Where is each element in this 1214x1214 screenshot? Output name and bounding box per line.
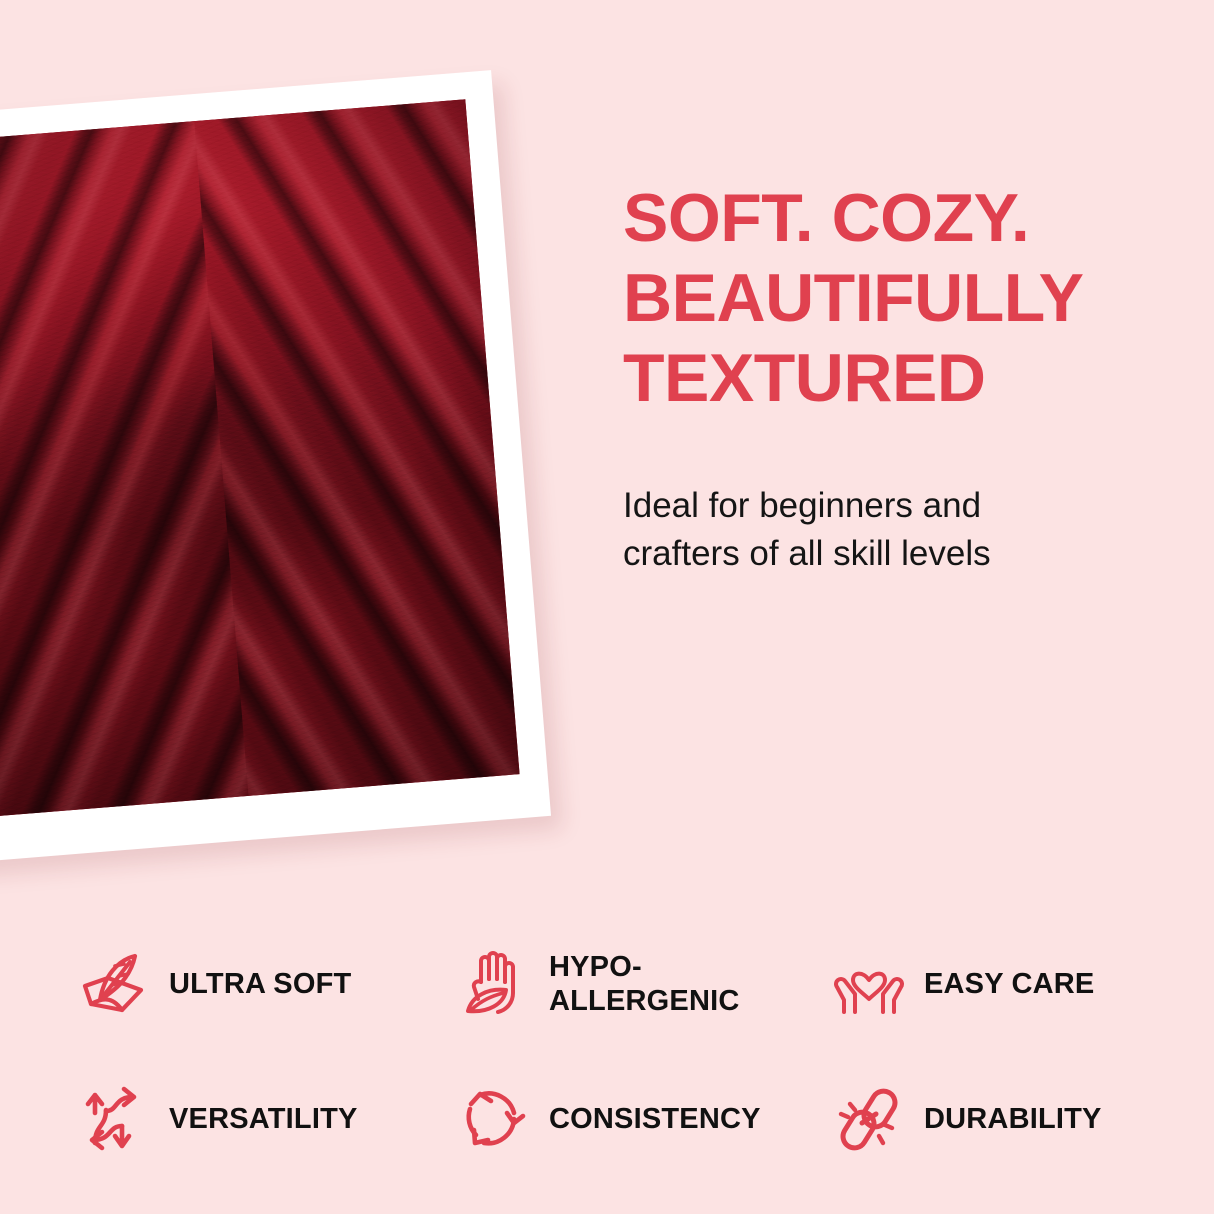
headline-line-1: SOFT. COZY. xyxy=(623,178,1193,258)
headline-line-3: TEXTURED xyxy=(623,338,1193,418)
feature-ultra-soft: ULTRA SOFT xyxy=(78,948,458,1020)
feature-grid: ULTRA SOFT HYPO- ALLERGENIC EASY CARE xyxy=(78,916,1148,1186)
four-way-arrows-icon xyxy=(78,1083,150,1155)
feature-label: VERSATILITY xyxy=(169,1102,358,1136)
yarn-photo xyxy=(0,99,520,817)
feature-easy-care: EASY CARE xyxy=(833,948,1148,1020)
yarn-vignette xyxy=(0,99,520,817)
subheadline: Ideal for beginners and crafters of all … xyxy=(623,482,1143,578)
subheadline-line-2: crafters of all skill levels xyxy=(623,530,1143,578)
photo-frame xyxy=(0,70,551,864)
hand-leaf-icon xyxy=(458,948,530,1020)
promo-graphic: SOFT. COZY. BEAUTIFULLY TEXTURED Ideal f… xyxy=(0,0,1214,1214)
subheadline-line-1: Ideal for beginners and xyxy=(623,482,1143,530)
feature-versatility: VERSATILITY xyxy=(78,1083,458,1155)
feature-durability: DURABILITY xyxy=(833,1083,1148,1155)
feature-label: DURABILITY xyxy=(924,1102,1102,1136)
feather-icon xyxy=(78,948,150,1020)
feature-label: CONSISTENCY xyxy=(549,1102,761,1136)
feature-label: ULTRA SOFT xyxy=(169,967,351,1001)
feature-label: EASY CARE xyxy=(924,967,1094,1001)
headline: SOFT. COZY. BEAUTIFULLY TEXTURED xyxy=(623,178,1193,418)
chain-link-icon xyxy=(833,1083,905,1155)
feature-label: HYPO- ALLERGENIC xyxy=(549,950,740,1018)
feature-consistency: CONSISTENCY xyxy=(458,1083,833,1155)
hands-heart-icon xyxy=(833,948,905,1020)
circular-arrows-icon xyxy=(458,1083,530,1155)
headline-line-2: BEAUTIFULLY xyxy=(623,258,1193,338)
feature-hypo-allergenic: HYPO- ALLERGENIC xyxy=(458,948,833,1020)
